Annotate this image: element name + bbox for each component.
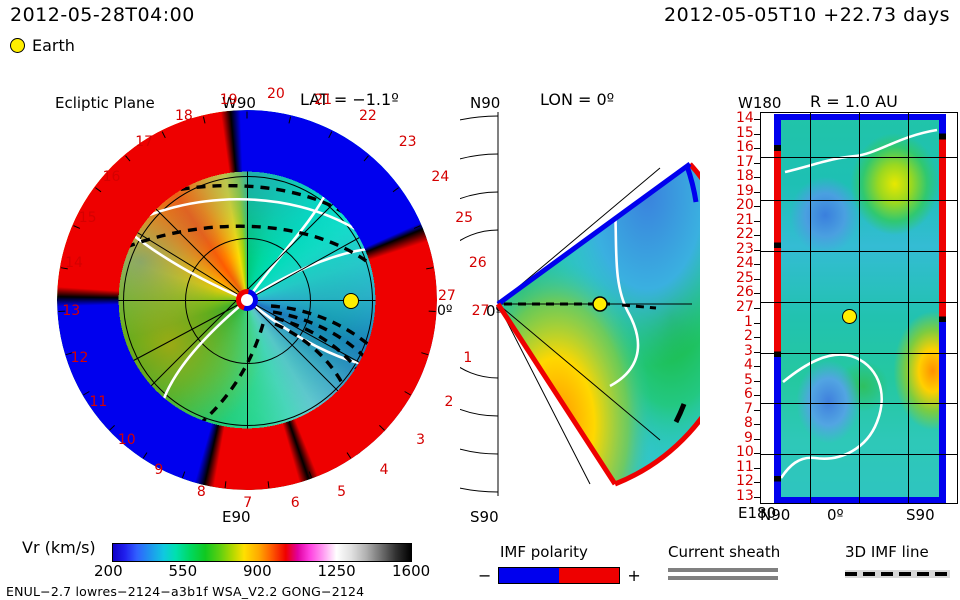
- au-polarity-edge-left: [774, 114, 781, 503]
- imf-3d-dash: [845, 572, 857, 576]
- ecliptic-tick-21: 21: [314, 92, 332, 108]
- au-y-tick-mark: [754, 482, 760, 483]
- au-grid-line-v: [859, 113, 860, 503]
- au-panel-title: R = 1.0 AU: [810, 92, 898, 111]
- au-grid-line-v: [810, 113, 811, 503]
- velocity-colorbar: [112, 543, 412, 562]
- au-x-ticks: N900ºS90: [760, 506, 958, 526]
- au-polarity-edge-right: [939, 114, 946, 503]
- au-y-tick-mark: [754, 264, 760, 265]
- meridional-velocity-field: [460, 104, 700, 514]
- imf-3d-legend-swatch: [845, 570, 950, 578]
- au-rim-bottom: [781, 497, 939, 503]
- earth-marker: [343, 293, 359, 309]
- meridional-left-tick-1: 0º: [437, 303, 453, 319]
- imf-polarity-legend: − +: [478, 566, 641, 585]
- ecliptic-tick-3: 3: [416, 432, 425, 448]
- au-y-tick-mark: [754, 119, 760, 120]
- au-y-tick-mark: [754, 148, 760, 149]
- au-y-tick-mark: [754, 206, 760, 207]
- colorbar-tick-200: 200: [94, 562, 123, 580]
- au-y-tick-mark: [754, 134, 760, 135]
- au-y-tick-mark: [754, 308, 760, 309]
- imf-polarity-legend-title: IMF polarity: [500, 543, 588, 561]
- ecliptic-bottom-label: E90: [222, 508, 251, 526]
- imf-polarity-swatch: [498, 567, 620, 584]
- current-sheath-line-top: [668, 568, 778, 572]
- ecliptic-tick-15: 15: [79, 210, 97, 226]
- au-x-tick-1: 0º: [827, 506, 844, 524]
- earth-legend-label: Earth: [32, 36, 75, 55]
- ecliptic-tick-7: 7: [243, 495, 252, 511]
- imf-positive-sign: +: [627, 566, 640, 585]
- au-y-tick-mark: [754, 439, 760, 440]
- au-y-tick-mark: [754, 424, 760, 425]
- colorbar-tick-1600: 1600: [392, 562, 430, 580]
- ecliptic-tick-17: 17: [135, 134, 153, 150]
- ecliptic-tick-6: 6: [291, 495, 300, 511]
- imf-3d-legend-title: 3D IMF line: [845, 543, 929, 561]
- ecliptic-tick-10: 10: [118, 432, 136, 448]
- au-y-tick-mark: [754, 497, 760, 498]
- au-y-tick-mark: [754, 395, 760, 396]
- ecliptic-tick-4: 4: [380, 462, 389, 478]
- imf-negative-sign: −: [478, 566, 491, 585]
- earth-legend: Earth: [10, 36, 75, 55]
- sun-marker: [236, 289, 258, 311]
- ecliptic-tick-19: 19: [220, 92, 238, 108]
- au-y-tick-mark: [754, 163, 760, 164]
- ecliptic-tick-16: 16: [103, 169, 121, 185]
- ecliptic-tick-14: 14: [65, 255, 83, 271]
- meridional-plane-plot: [460, 104, 700, 514]
- earth-icon: [10, 38, 25, 53]
- footer-model-info: ENUL−2.7 lowres−2124−a3b1f WSA_V2.2 GONG…: [6, 584, 364, 599]
- au-y-tick-mark: [754, 221, 760, 222]
- ecliptic-tick-24: 24: [431, 169, 449, 185]
- au-x-tick-0: N90: [760, 506, 790, 524]
- au-y-tick-mark: [754, 323, 760, 324]
- colorbar-tick-900: 900: [243, 562, 272, 580]
- meridional-left-tick-0: 27: [438, 288, 456, 304]
- au-x-tick-2: S90: [906, 506, 935, 524]
- observation-time: 2012-05-28T04:00: [10, 4, 195, 26]
- au-y-tick-mark: [754, 177, 760, 178]
- ecliptic-tick-12: 12: [71, 350, 89, 366]
- au-current-sheet: [781, 114, 939, 503]
- earth-marker: [842, 309, 857, 324]
- colorbar-label: Vr (km/s): [22, 538, 96, 557]
- au-velocity-field: [781, 114, 939, 503]
- au-rim-top: [781, 114, 939, 120]
- au-y-tick-mark: [754, 381, 760, 382]
- ecliptic-tick-9: 9: [154, 462, 163, 478]
- au-y-tick-mark: [754, 410, 760, 411]
- ecliptic-tick-23: 23: [399, 134, 417, 150]
- au-grid-line-v: [908, 113, 909, 503]
- ecliptic-tick-2: 2: [445, 394, 454, 410]
- au-y-tick-mark: [754, 235, 760, 236]
- earth-marker: [593, 297, 607, 311]
- au-y-tick-mark: [754, 352, 760, 353]
- colorbar-ticks: 20055090012501600: [92, 562, 432, 582]
- au-y-tick-mark: [754, 453, 760, 454]
- current-sheath-line-bottom: [668, 576, 778, 580]
- imf-3d-dash: [935, 572, 947, 576]
- ecliptic-plane-plot: [57, 110, 437, 490]
- au-map-plot: [760, 112, 958, 504]
- au-y-tick-mark: [754, 468, 760, 469]
- au-y-tick-mark: [754, 366, 760, 367]
- model-run-time: 2012-05-05T10 +22.73 days: [664, 4, 950, 26]
- ecliptic-tick-mark: [247, 112, 248, 119]
- ecliptic-tick-5: 5: [337, 484, 346, 500]
- ecliptic-tick-20: 20: [267, 86, 285, 102]
- ecliptic-tick-8: 8: [197, 484, 206, 500]
- imf-3d-dash: [917, 572, 929, 576]
- ecliptic-panel-title: Ecliptic Plane: [55, 94, 155, 112]
- imf-3d-dash: [899, 572, 911, 576]
- ecliptic-tick-22: 22: [359, 108, 377, 124]
- colorbar-tick-550: 550: [169, 562, 198, 580]
- au-y-tick-mark: [754, 293, 760, 294]
- imf-3d-dash: [863, 572, 875, 576]
- ecliptic-tick-13: 13: [62, 303, 80, 319]
- imf-3d-dash: [881, 572, 893, 576]
- au-y-tick-mark: [754, 279, 760, 280]
- au-y-tick-mark: [754, 250, 760, 251]
- au-y-tick-mark: [754, 192, 760, 193]
- current-sheath-legend-swatch: [668, 568, 778, 580]
- au-y-tick-13: 13: [736, 488, 754, 504]
- colorbar-tick-1250: 1250: [318, 562, 356, 580]
- ecliptic-tick-11: 11: [89, 394, 107, 410]
- current-sheath-legend-title: Current sheath: [668, 543, 780, 561]
- au-y-tick-mark: [754, 337, 760, 338]
- ecliptic-tick-18: 18: [175, 108, 193, 124]
